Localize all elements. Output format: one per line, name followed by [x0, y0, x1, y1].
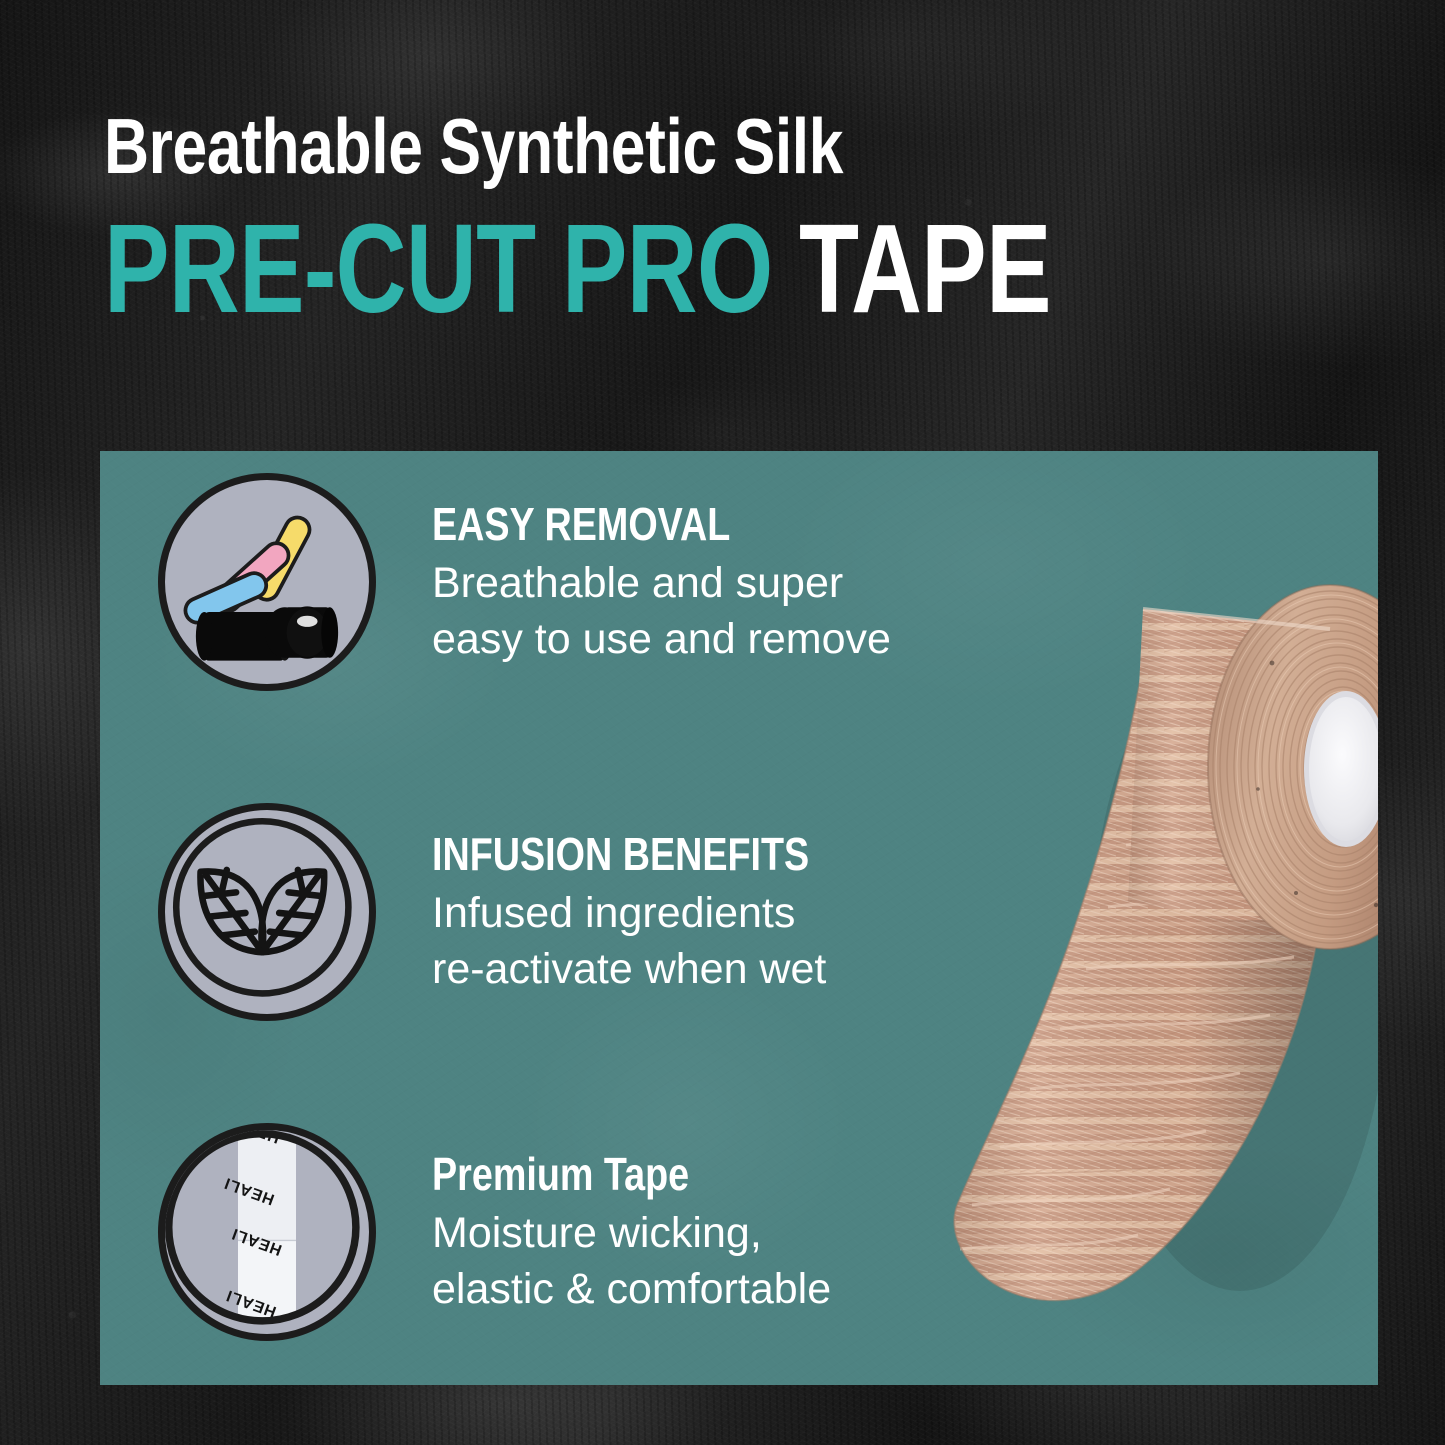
feature-heading: Premium Tape [432, 1149, 759, 1199]
leaves-icon [158, 803, 376, 1021]
feature-body-line: elastic & comfortable [432, 1261, 831, 1317]
feature-text-infusion-benefits: INFUSION BENEFITS Infused ingredients re… [432, 803, 892, 997]
feature-heading: INFUSION BENEFITS [432, 829, 809, 879]
feature-body: Infused ingredients re-activate when wet [432, 885, 892, 997]
product-infographic-canvas: Breathable Synthetic Silk PRE-CUT PRO TA… [0, 0, 1445, 1445]
feature-text-easy-removal: EASY REMOVAL Breathable and super easy t… [432, 473, 891, 667]
feature-body: Moisture wicking, elastic & comfortable [432, 1205, 831, 1317]
feature-heading: EASY REMOVAL [432, 499, 808, 549]
headline-title-teal: PRE-CUT PRO [104, 198, 772, 339]
feature-body-line: easy to use and remove [432, 611, 891, 667]
feature-body-line: re-activate when wet [432, 941, 892, 997]
headline-title: PRE-CUT PRO TAPE [104, 206, 1079, 332]
feature-panel: EASY REMOVAL Breathable and super easy t… [100, 451, 1378, 1385]
headline-block: Breathable Synthetic Silk PRE-CUT PRO TA… [104, 104, 1354, 332]
kinesiology-tape-roll [860, 571, 1378, 1311]
feature-body: Breathable and super easy to use and rem… [432, 555, 891, 667]
feature-body-line: Breathable and super [432, 555, 891, 611]
feature-row-infusion-benefits: INFUSION BENEFITS Infused ingredients re… [158, 803, 892, 1021]
feature-body-line: Infused ingredients [432, 885, 892, 941]
headline-title-white: TAPE [799, 198, 1051, 339]
feature-body-line: Moisture wicking, [432, 1205, 831, 1261]
feature-row-premium-tape: HEALI HEALI HEALI HEALI Premium Tape Moi… [158, 1123, 831, 1341]
headline-subtitle: Breathable Synthetic Silk [104, 104, 1104, 188]
feature-text-premium-tape: Premium Tape Moisture wicking, elastic &… [432, 1123, 831, 1317]
feature-row-easy-removal: EASY REMOVAL Breathable and super easy t… [158, 473, 891, 691]
headline-title-space [772, 198, 799, 339]
tape-strips-and-rolls-icon [158, 473, 376, 691]
heali-branded-tape-strip-icon: HEALI HEALI HEALI HEALI [158, 1123, 376, 1341]
